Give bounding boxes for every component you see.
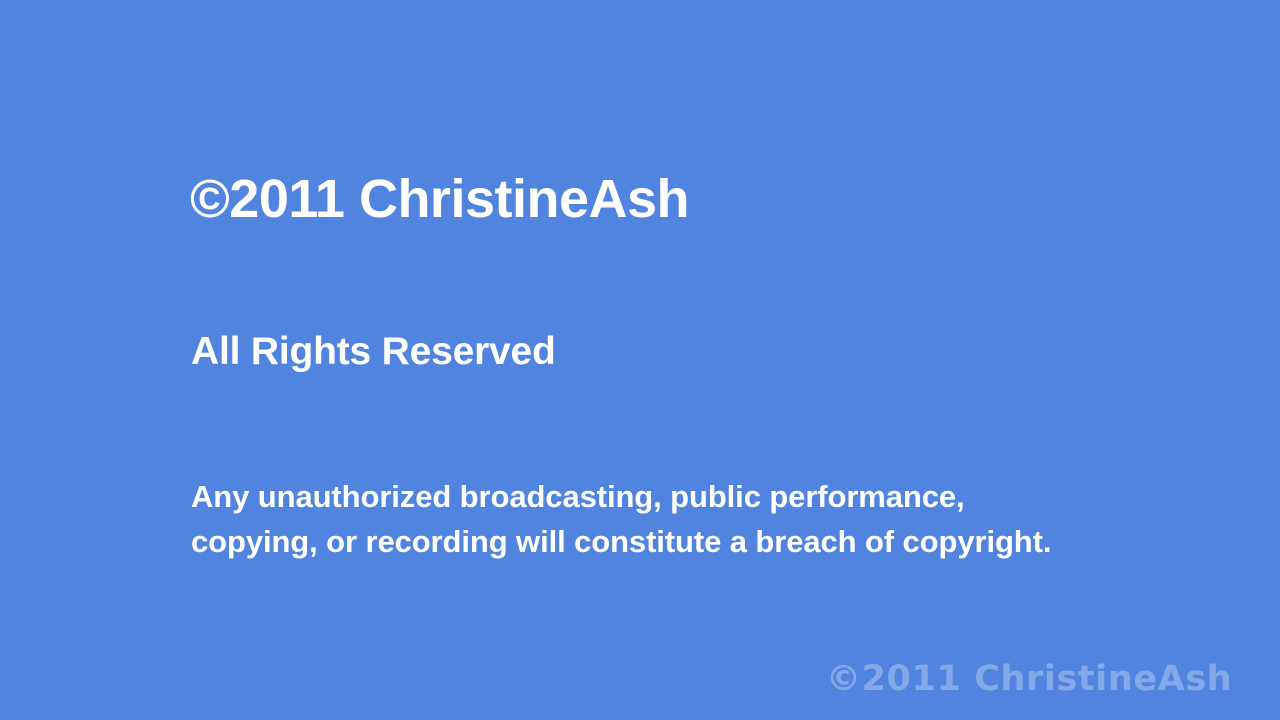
copyright-warning-text: Any unauthorized broadcasting, public pe… — [191, 474, 1201, 564]
warning-line-1: Any unauthorized broadcasting, public pe… — [191, 474, 1201, 519]
warning-line-2: copying, or recording will constitute a … — [191, 519, 1201, 564]
copyright-slide: ©2011 ChristineAsh All Rights Reserved A… — [0, 0, 1280, 720]
watermark: ©2011 ChristineAsh — [826, 661, 1232, 698]
page-title: ©2011 ChristineAsh — [190, 170, 689, 228]
rights-statement: All Rights Reserved — [191, 331, 556, 374]
